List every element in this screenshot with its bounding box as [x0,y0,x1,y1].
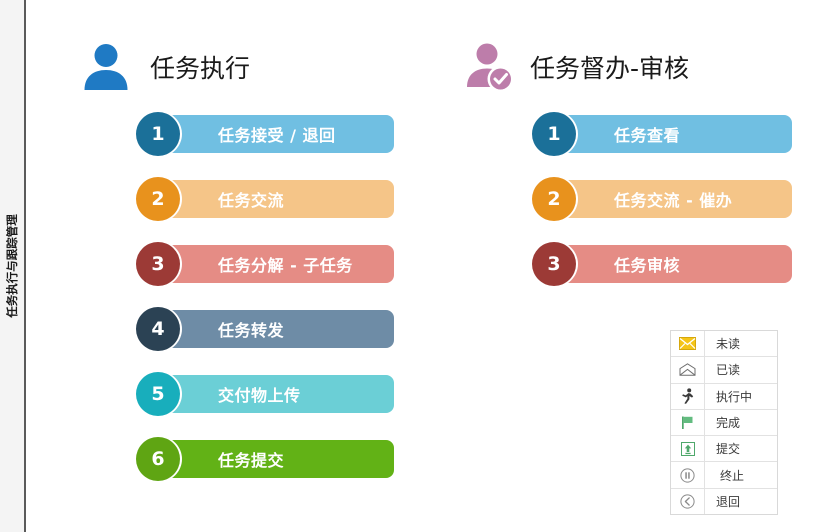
step-label: 任务查看 [614,122,680,146]
step-number-badge: 1 [532,112,576,156]
status-legend: 未读 已读 执行中 [670,330,778,515]
legend-row: 退回 [671,489,777,514]
step-label: 交付物上传 [218,382,301,406]
legend-label: 完成 [705,414,740,431]
legend-label: 未读 [705,335,740,352]
legend-label: 执行中 [705,388,752,405]
step-number-badge: 4 [136,307,180,351]
step-label: 任务转发 [218,317,284,341]
legend-label: 已读 [705,361,740,378]
legend-row: 终止 [671,462,777,488]
legend-row: 已读 [671,357,777,383]
step-bar[interactable]: 任务审核 [562,245,792,283]
person-icon [78,39,134,95]
diagram-canvas: 任务执行 任务接受 / 退回 1 任务交流 2 任务分解 - 子任务 3 [28,0,819,532]
step-number-badge: 3 [532,242,576,286]
step-bar[interactable]: 任务交流 [166,180,394,218]
submit-box-icon [671,436,705,461]
legend-row: 执行中 [671,384,777,410]
step-item[interactable]: 任务交流 - 催办 2 [532,177,780,221]
column-header-task-supervision: 任务督办-审核 [440,34,780,100]
step-bar[interactable]: 任务转发 [166,310,394,348]
legend-row: 提交 [671,436,777,462]
step-label: 任务交流 - 催办 [614,187,732,211]
step-number-badge: 5 [136,372,180,416]
step-number-badge: 6 [136,437,180,481]
column-title: 任务督办-审核 [530,49,689,85]
step-number-badge: 3 [136,242,180,286]
step-label: 任务接受 / 退回 [218,122,336,146]
step-item[interactable]: 任务提交 6 [136,437,390,481]
step-item[interactable]: 任务审核 3 [532,242,780,286]
step-label: 任务提交 [218,447,284,471]
step-list-task-supervision: 任务查看 1 任务交流 - 催办 2 任务审核 3 [440,112,780,286]
legend-label: 提交 [705,440,740,457]
envelope-filled-icon [671,331,705,356]
step-label: 任务交流 [218,187,284,211]
step-item[interactable]: 交付物上传 5 [136,372,390,416]
step-item[interactable]: 任务接受 / 退回 1 [136,112,390,156]
column-title: 任务执行 [150,49,250,85]
step-item[interactable]: 任务交流 2 [136,177,390,221]
legend-row: 未读 [671,331,777,357]
person-check-icon [462,39,518,95]
column-header-task-execution: 任务执行 [50,34,390,100]
step-bar[interactable]: 任务分解 - 子任务 [166,245,394,283]
back-circle-icon [671,489,705,514]
step-item[interactable]: 任务查看 1 [532,112,780,156]
pause-circle-icon [671,462,705,487]
step-number-badge: 1 [136,112,180,156]
legend-label: 终止 [705,467,744,484]
column-task-supervision: 任务督办-审核 任务查看 1 任务交流 - 催办 2 任务审核 3 [440,0,780,307]
step-number-badge: 2 [136,177,180,221]
step-item[interactable]: 任务转发 4 [136,307,390,351]
step-bar[interactable]: 交付物上传 [166,375,394,413]
step-label: 任务分解 - 子任务 [218,252,353,276]
step-label: 任务审核 [614,252,680,276]
step-number-badge: 2 [532,177,576,221]
step-bar[interactable]: 任务查看 [562,115,792,153]
step-bar[interactable]: 任务接受 / 退回 [166,115,394,153]
flag-icon [671,410,705,435]
step-list-task-execution: 任务接受 / 退回 1 任务交流 2 任务分解 - 子任务 3 任务转发 [50,112,390,481]
column-task-execution: 任务执行 任务接受 / 退回 1 任务交流 2 任务分解 - 子任务 3 [50,0,390,502]
envelope-open-icon [671,357,705,382]
vertical-rail-label: 任务执行与跟踪管理 [0,0,24,532]
step-bar[interactable]: 任务交流 - 催办 [562,180,792,218]
legend-label: 退回 [705,493,740,510]
step-bar[interactable]: 任务提交 [166,440,394,478]
step-item[interactable]: 任务分解 - 子任务 3 [136,242,390,286]
legend-row: 完成 [671,410,777,436]
running-person-icon [671,384,705,409]
vertical-rail: 任务执行与跟踪管理 [0,0,26,532]
